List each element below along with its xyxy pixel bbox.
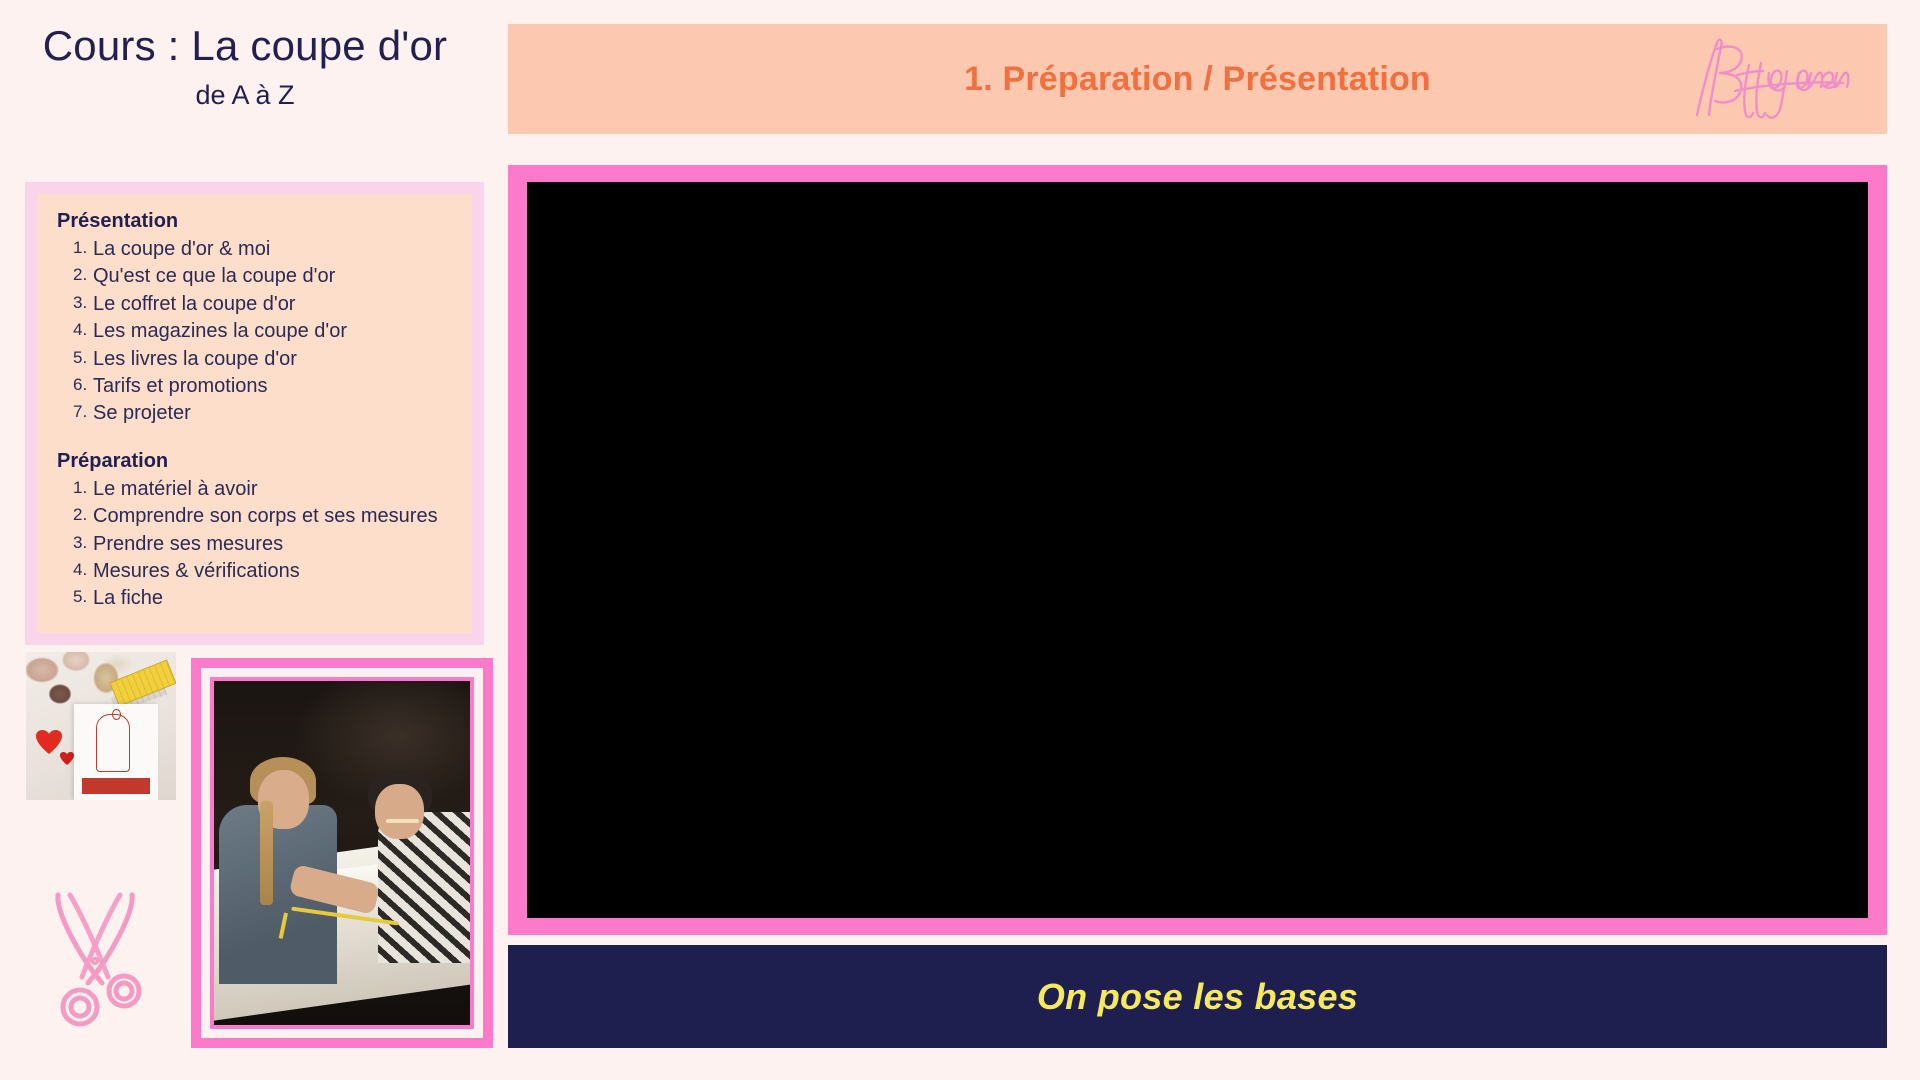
caption-text: On pose les bases (1037, 976, 1358, 1018)
outline-item[interactable]: Les magazines la coupe d'or (57, 318, 454, 345)
photo-frame-inner (210, 677, 474, 1029)
lutterloh-book (74, 704, 158, 800)
lesson-header-banner: 1. Préparation / Présentation (508, 24, 1887, 134)
scissors-icon (40, 885, 150, 1030)
outline-item[interactable]: Le matériel à avoir (57, 476, 454, 503)
lutterloh-book-flatlay-photo (26, 652, 176, 800)
sewing-workshop-photo-frame (191, 658, 493, 1048)
photo-frame-middle (201, 668, 483, 1038)
page-title: Cours : La coupe d'or (0, 22, 490, 70)
betty-jeane-signature-logo (1683, 29, 1873, 129)
outline-item[interactable]: Tarifs et promotions (57, 373, 454, 400)
outline-section-heading-presentation: Présentation (57, 210, 454, 233)
video-player-frame[interactable] (508, 165, 1887, 935)
outline-item[interactable]: La coupe d'or & moi (57, 236, 454, 263)
dress-figure-illustration (96, 714, 130, 772)
caption-bar: On pose les bases (508, 945, 1887, 1048)
outline-item[interactable]: Le coffret la coupe d'or (57, 291, 454, 318)
course-outline-card: Présentation La coupe d'or & moi Qu'est … (25, 182, 484, 645)
outline-list-presentation: La coupe d'or & moi Qu'est ce que la cou… (57, 236, 454, 428)
seamstress-left-braid (260, 801, 273, 904)
outline-list-preparation: Le matériel à avoir Comprendre son corps… (57, 476, 454, 613)
page-subtitle: de A à Z (0, 80, 490, 111)
outline-item[interactable]: Se projeter (57, 400, 454, 427)
left-sidebar: Cours : La coupe d'or de A à Z Présentat… (0, 0, 508, 1080)
outline-item[interactable]: Mesures & vérifications (57, 558, 454, 585)
outline-item[interactable]: Prendre ses mesures (57, 531, 454, 558)
outline-item[interactable]: La fiche (57, 585, 454, 612)
course-outline-inner: Présentation La coupe d'or & moi Qu'est … (37, 194, 472, 633)
outline-section-heading-preparation: Préparation (57, 450, 454, 473)
sewing-workshop-photo (214, 681, 470, 1025)
lesson-title: 1. Préparation / Présentation (964, 60, 1431, 99)
outline-item[interactable]: Les livres la coupe d'or (57, 346, 454, 373)
outline-item[interactable]: Comprendre son corps et ses mesures (57, 503, 454, 530)
glasses-icon (386, 819, 419, 823)
video-screen[interactable] (527, 182, 1868, 918)
lutterloh-brand-label (82, 778, 150, 794)
seamstress-right-head (375, 784, 424, 839)
outline-item[interactable]: Qu'est ce que la coupe d'or (57, 263, 454, 290)
